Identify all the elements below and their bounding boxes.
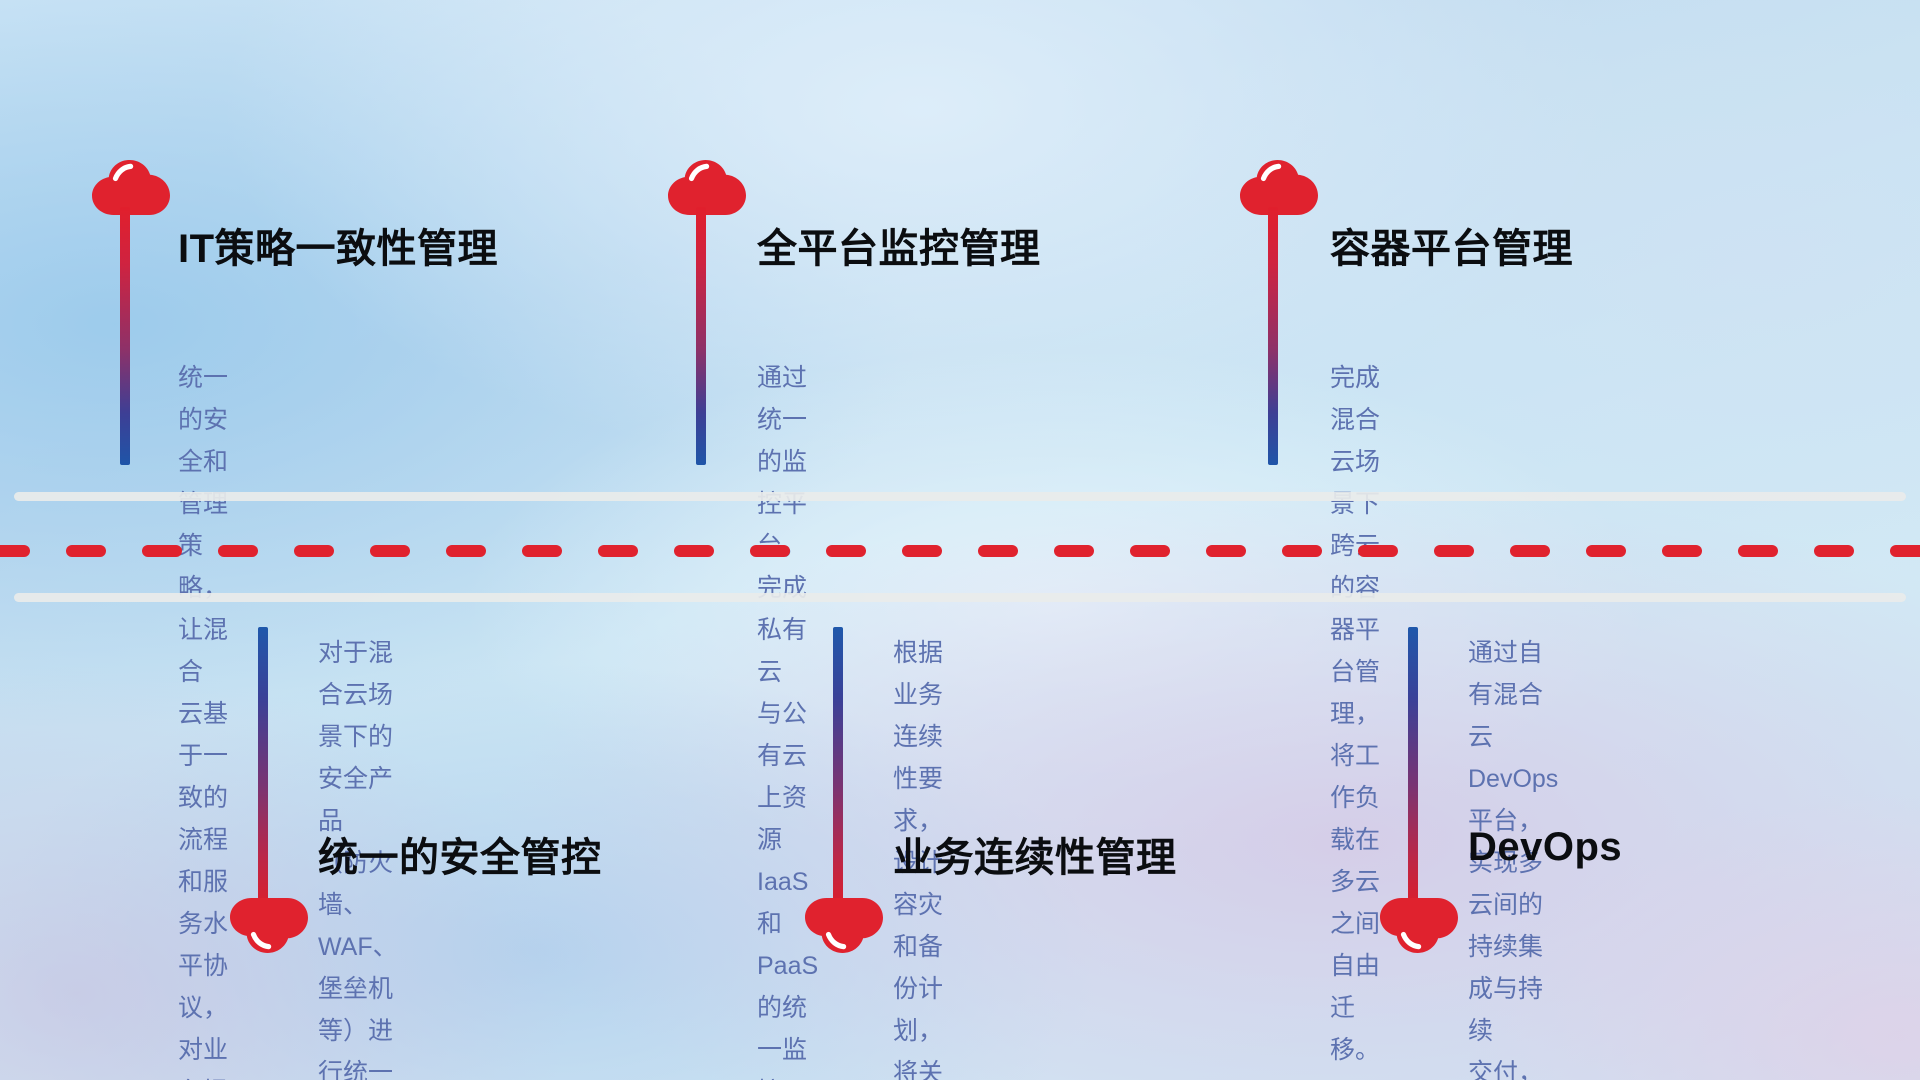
separator-dash	[66, 545, 106, 557]
card-body: 统一的安全和管理策略，让混合 云基于一致的流程和服务水平协 议，对业务提供支持。	[178, 357, 228, 1080]
separator-dash	[370, 545, 410, 557]
separator-dash	[1662, 545, 1702, 557]
infographic-canvas: IT策略一致性管理 统一的安全和管理策略，让混合 云基于一致的流程和服务水平协 …	[0, 0, 1920, 1080]
connector-stem	[1408, 627, 1418, 902]
cloud-icon	[1240, 160, 1318, 218]
separator-dash	[902, 545, 942, 557]
upper-divider-rule	[14, 492, 1906, 501]
card-title: 业务连续性管理	[893, 825, 1177, 883]
connector-stem	[833, 627, 843, 902]
separator-dash	[1054, 545, 1094, 557]
separator-dash	[1510, 545, 1550, 557]
cloud-icon	[230, 895, 308, 953]
separator-dash	[522, 545, 562, 557]
separator-dash	[218, 545, 258, 557]
lower-divider-rule	[14, 593, 1906, 602]
separator-dash	[0, 545, 30, 557]
separator-dash	[1358, 545, 1398, 557]
connector-stem	[258, 627, 268, 902]
card-title: 容器平台管理	[1330, 216, 1573, 274]
cloud-icon	[1380, 895, 1458, 953]
card-title: DevOps	[1468, 825, 1622, 870]
separator-dash	[1890, 545, 1920, 557]
separator-dash	[1814, 545, 1854, 557]
connector-stem	[1268, 207, 1278, 465]
cloud-icon	[668, 160, 746, 218]
cloud-icon	[805, 895, 883, 953]
card-body: 完成混合云场景下跨云的容器平 台管理，将工作负载在多云之间 自由迁移。	[1330, 357, 1380, 1071]
separator-dash	[1282, 545, 1322, 557]
separator-dash	[750, 545, 790, 557]
card-body: 通过统一的监控平台，完成私有云 与公有云上资源IaaS和PaaS的统 一监控；开…	[757, 357, 818, 1080]
separator-dash	[1738, 545, 1778, 557]
connector-stem	[120, 207, 130, 465]
separator-dash	[826, 545, 866, 557]
connector-stem	[696, 207, 706, 465]
separator-dash	[674, 545, 714, 557]
card-title: 统一的安全管控	[318, 825, 602, 883]
separator-dash	[294, 545, 334, 557]
separator-dash	[1130, 545, 1170, 557]
separator-dash	[1434, 545, 1474, 557]
red-dashed-separator	[0, 545, 1920, 557]
separator-dash	[446, 545, 486, 557]
card-title: IT策略一致性管理	[178, 216, 498, 274]
cloud-icon	[92, 160, 170, 218]
separator-dash	[1206, 545, 1246, 557]
separator-dash	[598, 545, 638, 557]
card-title: 全平台监控管理	[757, 216, 1041, 274]
separator-dash	[142, 545, 182, 557]
separator-dash	[978, 545, 1018, 557]
separator-dash	[1586, 545, 1626, 557]
